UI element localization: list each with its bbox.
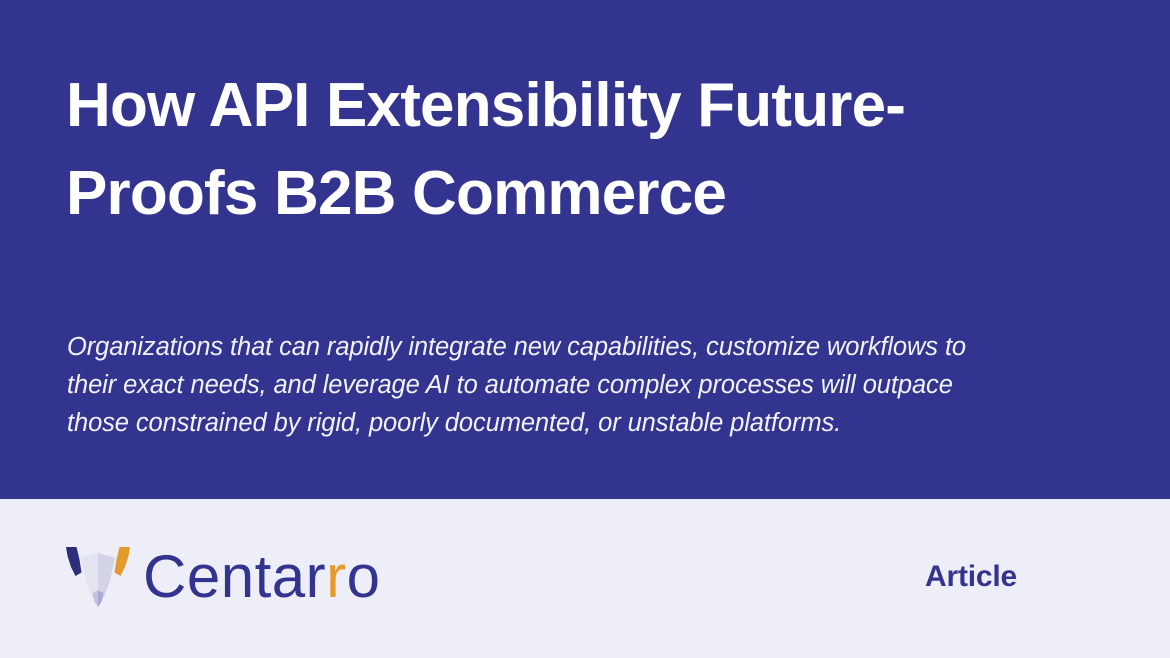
footer-bar: Centarro Article [0, 499, 1170, 658]
brand-name: Centarro [143, 547, 380, 607]
hero-section: How API Extensibility Future-Proofs B2B … [0, 0, 1170, 499]
brand-name-primary: Centar [143, 543, 326, 610]
brand-name-tail: o [347, 543, 381, 610]
bull-head-icon [62, 545, 134, 609]
brand-lockup[interactable]: Centarro [62, 545, 380, 609]
page-title: How API Extensibility Future-Proofs B2B … [66, 62, 1076, 238]
brand-name-accent: r [326, 543, 346, 610]
hero-subtitle: Organizations that can rapidly integrate… [67, 328, 1012, 442]
content-type-label: Article [925, 562, 1017, 592]
article-share-card: How API Extensibility Future-Proofs B2B … [0, 0, 1170, 658]
